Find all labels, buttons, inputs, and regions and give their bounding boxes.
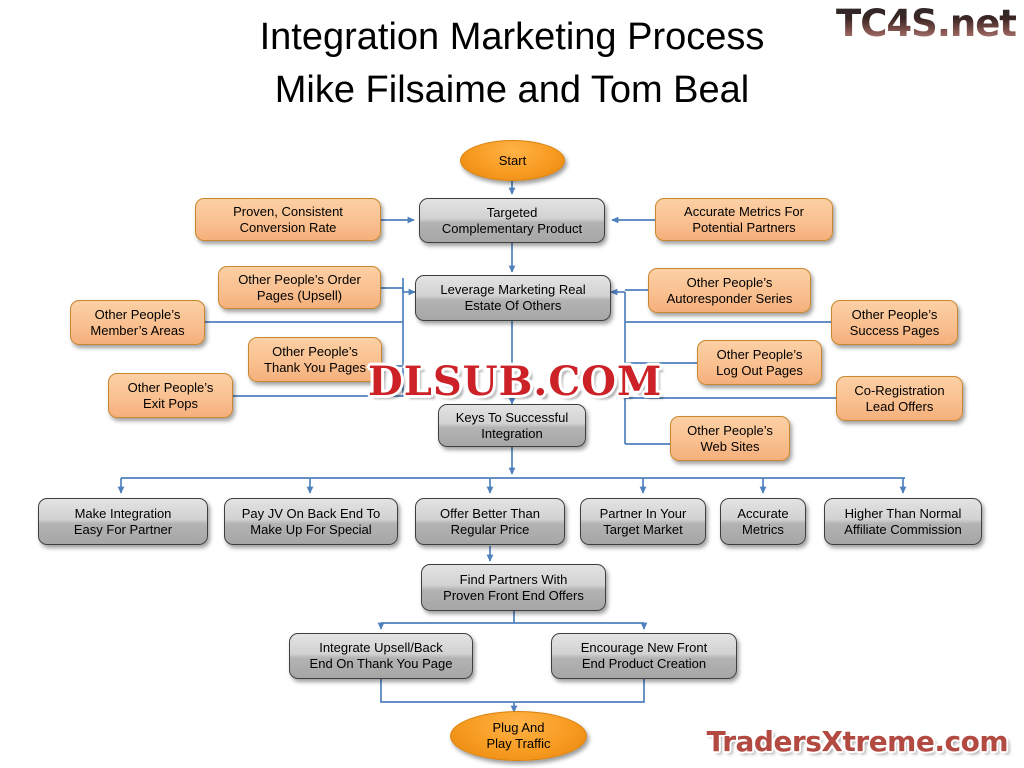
node-logout-label-1: Other People’s: [717, 347, 803, 362]
node-other-peoples-autoresponder-series[interactable]: Other People’s Autoresponder Series: [648, 268, 811, 313]
node-keys-label-1: Keys To Successful: [456, 410, 568, 425]
node-success-label-1: Other People’s: [852, 307, 938, 322]
node-success-label-2: Success Pages: [850, 323, 940, 338]
node-keys-label-2: Integration: [481, 426, 542, 441]
node-member-label-1: Other People’s: [95, 307, 181, 322]
node-keys-to-successful-integration[interactable]: Keys To Successful Integration: [438, 404, 586, 447]
node-metrics-label-1: Accurate Metrics For: [684, 204, 804, 219]
node-thankyou-label-2: Thank You Pages: [264, 360, 366, 375]
node-higher-label-1: Higher Than Normal: [845, 506, 962, 521]
node-start-label: Start: [466, 153, 559, 169]
node-other-peoples-order-pages[interactable]: Other People’s Order Pages (Upsell): [218, 266, 381, 309]
node-better-label-2: Regular Price: [451, 522, 530, 537]
node-findpartners-label-1: Find Partners With: [460, 572, 568, 587]
node-leverage-label-2: Estate Of Others: [465, 298, 562, 313]
tradersxtreme-logo: TradersXtreme.com: [707, 725, 1008, 758]
node-targeted-complementary-product[interactable]: Targeted Complementary Product: [419, 198, 605, 243]
node-higher-label-2: Affiliate Commission: [844, 522, 962, 537]
node-accurate-metrics-partners[interactable]: Accurate Metrics For Potential Partners: [655, 198, 833, 241]
node-partner-label-1: Partner In Your: [600, 506, 687, 521]
node-findpartners-label-2: Proven Front End Offers: [443, 588, 584, 603]
node-offer-better-than-regular-price[interactable]: Offer Better Than Regular Price: [415, 498, 565, 545]
node-websites-label-2: Web Sites: [700, 439, 759, 454]
node-leverage-marketing-real-estate[interactable]: Leverage Marketing Real Estate Of Others: [415, 275, 611, 321]
node-targeted-label-2: Complementary Product: [442, 221, 582, 236]
node-other-peoples-thank-you-pages[interactable]: Other People’s Thank You Pages: [248, 337, 382, 382]
node-accurate-label-2: Metrics: [742, 522, 784, 537]
node-leverage-label-1: Leverage Marketing Real: [440, 282, 585, 297]
node-encourage-label-1: Encourage New Front: [581, 640, 707, 655]
node-start[interactable]: Start: [460, 140, 565, 181]
node-proven-label-2: Conversion Rate: [240, 220, 337, 235]
node-integrate-label-2: End On Thank You Page: [310, 656, 453, 671]
node-coreg-label-2: Lead Offers: [866, 399, 934, 414]
tc4s-logo: TC4S.net: [836, 2, 1016, 45]
node-co-registration-lead-offers[interactable]: Co-Registration Lead Offers: [836, 376, 963, 421]
edge-order-trunk: [381, 288, 403, 292]
node-coreg-label-1: Co-Registration: [854, 383, 944, 398]
node-easy-label-1: Make Integration: [75, 506, 172, 521]
node-websites-label-1: Other People’s: [687, 423, 773, 438]
node-member-label-2: Member’s Areas: [90, 323, 184, 338]
node-easy-label-2: Easy For Partner: [74, 522, 172, 537]
node-proven-label-1: Proven, Consistent: [233, 204, 343, 219]
node-partner-in-your-target-market[interactable]: Partner In Your Target Market: [580, 498, 706, 545]
node-accurate-label-1: Accurate: [737, 506, 788, 521]
node-order-label-2: Pages (Upsell): [257, 288, 342, 303]
node-accurate-metrics[interactable]: Accurate Metrics: [720, 498, 806, 545]
page-title-line2: Mike Filsaime and Tom Beal: [0, 65, 1024, 115]
node-payjv-label-1: Pay JV On Back End To: [242, 506, 381, 521]
node-exitpops-label-2: Exit Pops: [143, 396, 198, 411]
node-order-label-1: Other People’s Order: [238, 272, 361, 287]
node-pay-jv-on-back-end[interactable]: Pay JV On Back End To Make Up For Specia…: [224, 498, 398, 545]
node-other-peoples-log-out-pages[interactable]: Other People’s Log Out Pages: [697, 340, 822, 385]
node-higher-than-normal-affiliate-commission[interactable]: Higher Than Normal Affiliate Commission: [824, 498, 982, 545]
node-payjv-label-2: Make Up For Special: [250, 522, 371, 537]
node-better-label-1: Offer Better Than: [440, 506, 540, 521]
node-encourage-label-2: End Product Creation: [582, 656, 706, 671]
node-metrics-label-2: Potential Partners: [692, 220, 795, 235]
node-other-peoples-web-sites[interactable]: Other People’s Web Sites: [670, 416, 790, 461]
node-integrate-upsell-back-end[interactable]: Integrate Upsell/Back End On Thank You P…: [289, 633, 473, 679]
dlsub-watermark: DLSUB.COM: [368, 358, 662, 405]
node-other-peoples-success-pages[interactable]: Other People’s Success Pages: [831, 300, 958, 345]
node-plug-label-1: Plug And: [492, 720, 544, 735]
node-other-peoples-members-areas[interactable]: Other People’s Member’s Areas: [70, 300, 205, 345]
node-partner-label-2: Target Market: [603, 522, 682, 537]
node-autoresp-label-1: Other People’s: [687, 275, 773, 290]
node-plug-and-play-traffic[interactable]: Plug And Play Traffic: [450, 711, 587, 761]
node-proven-conversion-rate[interactable]: Proven, Consistent Conversion Rate: [195, 198, 381, 241]
node-exitpops-label-1: Other People’s: [128, 380, 214, 395]
node-find-partners-with-proven-front-end-offers[interactable]: Find Partners With Proven Front End Offe…: [421, 564, 606, 611]
node-autoresp-label-2: Autoresponder Series: [667, 291, 793, 306]
diagram-canvas: Integration Marketing Process Mike Filsa…: [0, 0, 1024, 768]
node-make-integration-easy[interactable]: Make Integration Easy For Partner: [38, 498, 208, 545]
node-encourage-new-front-end-product-creation[interactable]: Encourage New Front End Product Creation: [551, 633, 737, 679]
node-integrate-label-1: Integrate Upsell/Back: [319, 640, 443, 655]
node-other-peoples-exit-pops[interactable]: Other People’s Exit Pops: [108, 373, 233, 418]
node-logout-label-2: Log Out Pages: [716, 363, 803, 378]
edge-merge-plug: [381, 679, 644, 702]
node-thankyou-label-1: Other People’s: [272, 344, 358, 359]
node-plug-label-2: Play Traffic: [486, 736, 550, 751]
node-targeted-label-1: Targeted: [487, 205, 538, 220]
